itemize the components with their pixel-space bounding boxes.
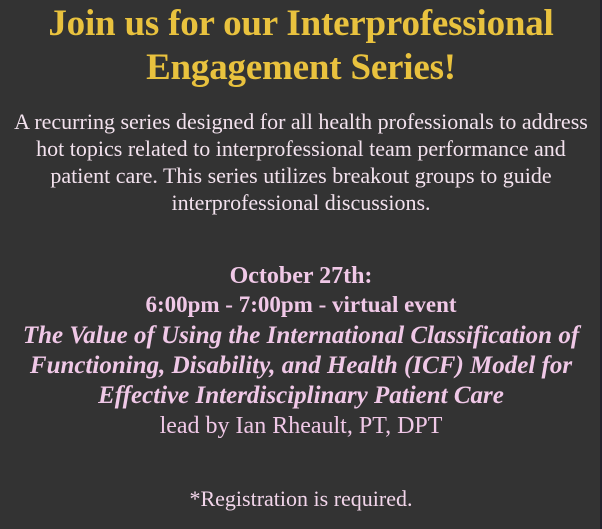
event-session-title: The Value of Using the International Cla… bbox=[14, 319, 588, 411]
note-spacer bbox=[14, 441, 588, 485]
event-presenter: lead by Ian Rheault, PT, DPT bbox=[14, 411, 588, 441]
series-description: A recurring series designed for all heal… bbox=[14, 90, 588, 216]
event-flyer: Join us for our Interprofessional Engage… bbox=[0, 0, 602, 529]
section-spacer bbox=[14, 216, 588, 262]
flyer-content: Join us for our Interprofessional Engage… bbox=[0, 0, 602, 512]
event-time-and-format: 6:00pm - 7:00pm - virtual event bbox=[14, 291, 588, 319]
event-details-block: October 27th: 6:00pm - 7:00pm - virtual … bbox=[14, 262, 588, 441]
registration-note: *Registration is required. bbox=[14, 485, 588, 512]
page-title: Join us for our Interprofessional Engage… bbox=[14, 0, 588, 90]
event-date: October 27th: bbox=[14, 262, 588, 291]
